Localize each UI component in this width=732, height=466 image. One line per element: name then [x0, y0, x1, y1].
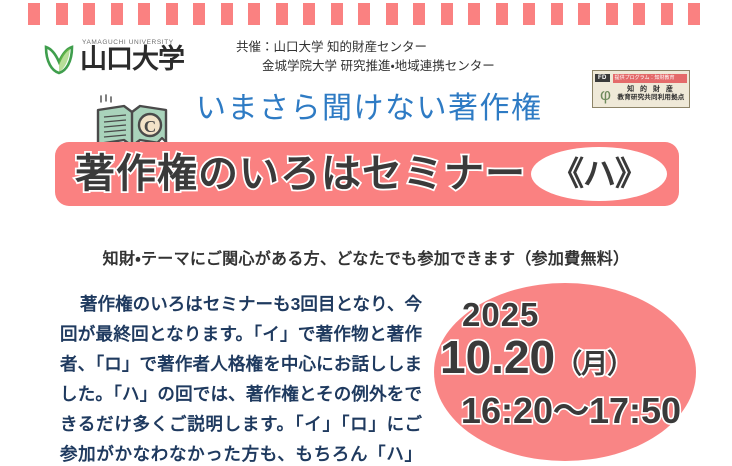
description-paragraph: 著作権のいろはセミナーも3回目となり、今回が最終回となります。「イ」で著作物と著… — [60, 289, 422, 466]
stripe-segment — [303, 3, 315, 25]
main-title-banner: 著作権のいろはセミナー 《ハ》 — [55, 142, 679, 206]
stripe-segment — [221, 3, 233, 25]
stripe-segment — [661, 3, 673, 25]
fd-program-badge: FD 提供プログラム：知財教育 φ 知 的 財 産 教育研究共同利用拠点 — [592, 70, 690, 108]
stripe-segment — [111, 3, 123, 25]
event-year: 2025 — [462, 298, 539, 331]
stripe-segment — [166, 3, 178, 25]
fd-phi-symbol-icon: φ — [597, 85, 614, 105]
top-stripe-decoration — [28, 3, 700, 25]
event-day-of-week: （月） — [555, 349, 633, 379]
cohost-block: 共催：山口大学 知的財産センター 金城学院大学 研究推進・地域連携センター — [236, 38, 566, 77]
stripe-segment — [441, 3, 453, 25]
stripe-segment — [606, 3, 618, 25]
stripe-segment — [633, 3, 645, 25]
poster-subtitle: いまさら聞けない著作権 — [196, 92, 543, 125]
stripe-segment — [358, 3, 370, 25]
event-date-number: 10.20 — [440, 331, 555, 383]
poster-root: YAMAGUCHI UNIVERSITY 山口大学 共催：山口大学 知的財産セン… — [0, 0, 732, 466]
fd-tag-label: FD — [595, 74, 610, 82]
cohost-line-1: 共催：山口大学 知的財産センター — [236, 38, 566, 57]
svg-text:C: C — [144, 117, 156, 136]
chapter-badge: 《ハ》 — [531, 147, 667, 201]
fd-title-line-2: 教育研究共同利用拠点 — [615, 94, 687, 103]
cohost-line-2: 金城学院大学 研究推進・地域連携センター — [236, 57, 566, 76]
stripe-segment — [83, 3, 95, 25]
stripe-segment — [386, 3, 398, 25]
stripe-segment — [688, 3, 700, 25]
stripe-segment — [193, 3, 205, 25]
event-time: 16:20〜17:50 — [436, 393, 706, 429]
poster-header: YAMAGUCHI UNIVERSITY 山口大学 共催：山口大学 知的財産セン… — [0, 34, 732, 84]
open-to-all-notice: 知財・テーマにご関心がある方、どなたでも参加できます（参加費無料） — [0, 245, 732, 269]
university-logo: YAMAGUCHI UNIVERSITY 山口大学 — [42, 36, 232, 82]
seminar-title: 著作権のいろはセミナー — [75, 149, 526, 199]
stripe-segment — [28, 3, 40, 25]
stripe-segment — [468, 3, 480, 25]
stripe-segment — [496, 3, 508, 25]
yamaguchi-university-leaf-logo-icon — [42, 42, 76, 76]
fd-program-label: 提供プログラム：知財教育 — [613, 74, 687, 83]
chapter-label: 《ハ》 — [531, 147, 667, 201]
stripe-segment — [276, 3, 288, 25]
fd-badge-top-row: FD 提供プログラム：知財教育 — [595, 73, 687, 83]
stripe-segment — [138, 3, 150, 25]
stripe-segment — [248, 3, 260, 25]
stripe-segment — [551, 3, 563, 25]
stripe-segment — [523, 3, 535, 25]
event-date: 10.20（月） — [440, 334, 702, 380]
fd-badge-body: 知 的 財 産 教育研究共同利用拠点 — [615, 85, 687, 103]
stripe-segment — [578, 3, 590, 25]
stripe-segment — [413, 3, 425, 25]
stripe-segment — [56, 3, 68, 25]
university-japanese-name: 山口大学 — [80, 46, 184, 73]
stripe-segment — [331, 3, 343, 25]
